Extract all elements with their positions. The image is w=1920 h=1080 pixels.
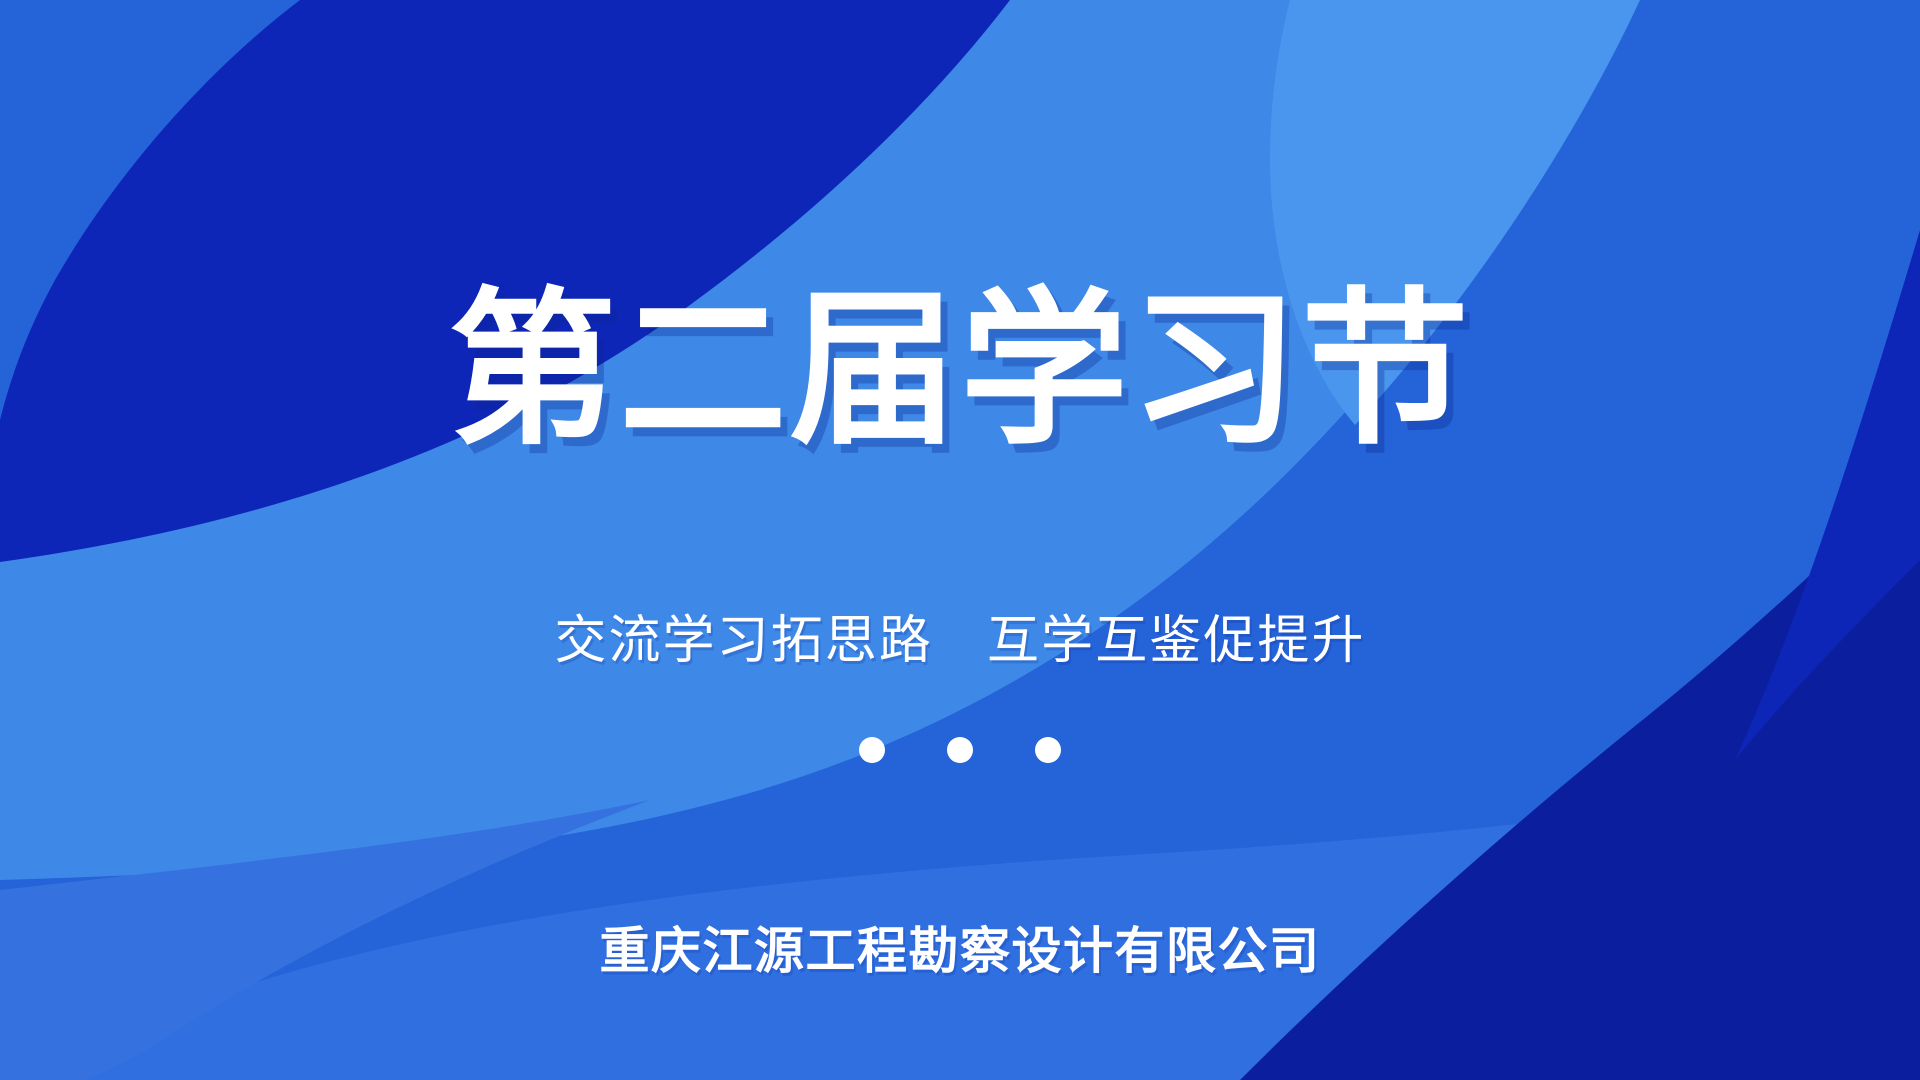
page-subtitle: 交流学习拓思路 互学互鉴促提升: [0, 613, 1920, 670]
company-name: 重庆江源工程勘察设计有限公司: [0, 923, 1920, 981]
page-title: 第二届学习节: [0, 286, 1920, 454]
poster-canvas: 第二届学习节 交流学习拓思路 互学互鉴促提升 重庆江源工程勘察设计有限公司: [0, 0, 1920, 1080]
background-wave-art: [0, 0, 1920, 1080]
separator-dot: [859, 737, 885, 763]
dot-separator: [0, 737, 1920, 763]
separator-dot: [947, 737, 973, 763]
separator-dot: [1035, 737, 1061, 763]
